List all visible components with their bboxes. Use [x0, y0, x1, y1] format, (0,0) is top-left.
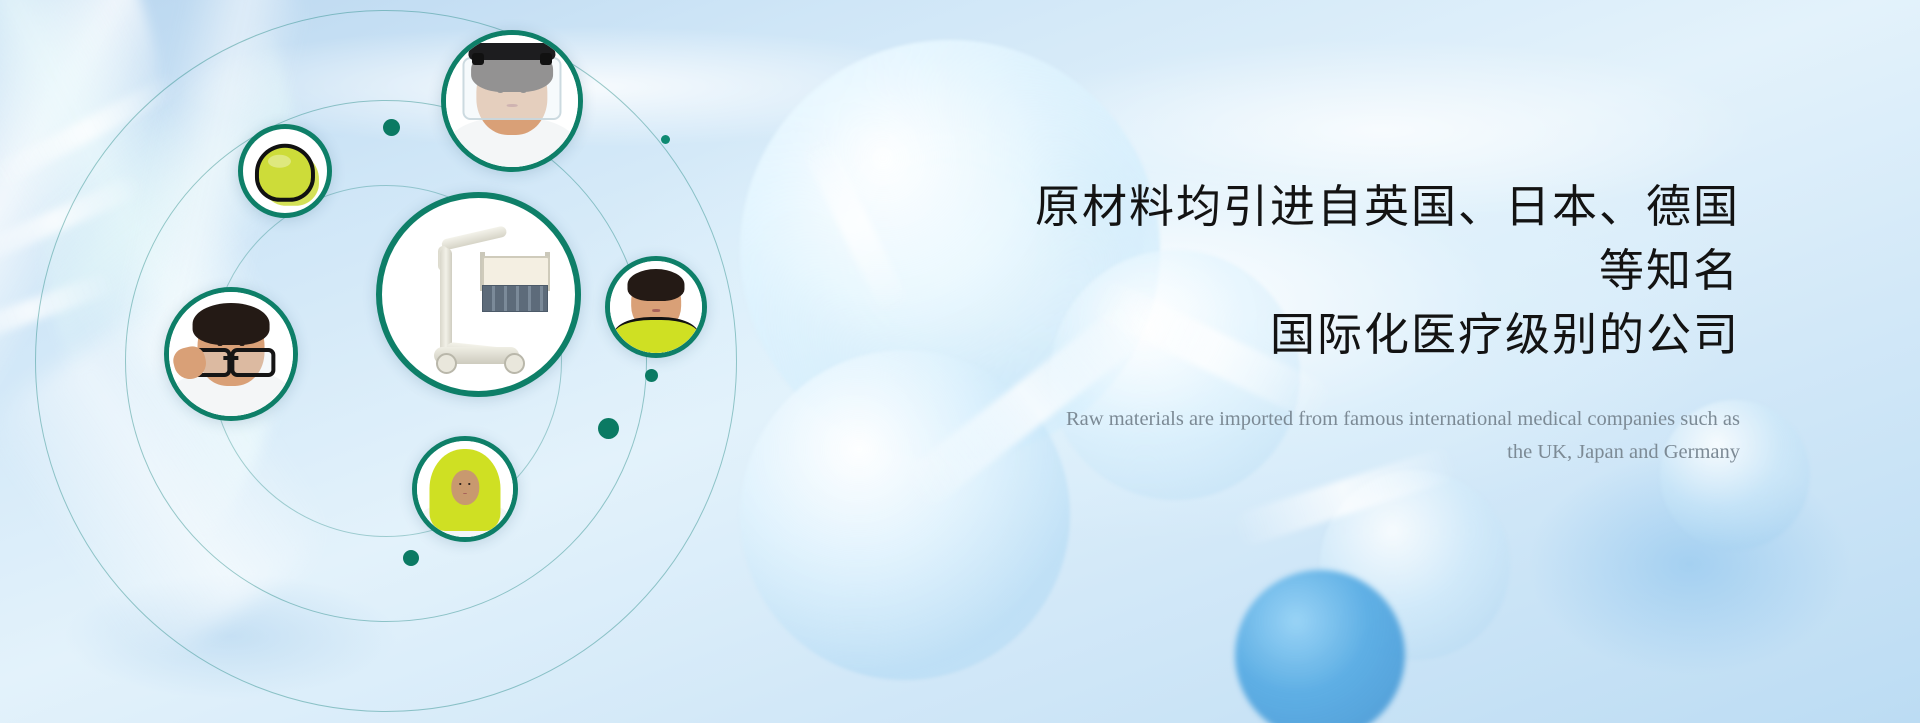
bubble-protective-hood[interactable] — [412, 436, 518, 542]
barrier-wheel-left — [436, 353, 457, 374]
protective-cap-image — [243, 129, 327, 213]
orbit-node-dot-3 — [645, 369, 658, 382]
face-shield-clip-left-icon — [472, 53, 484, 65]
apron-person-mouth — [652, 309, 660, 311]
barrier-lead-curtain — [482, 285, 548, 312]
hood-person-face — [451, 470, 479, 505]
mobile-xray-barrier-image — [382, 198, 575, 391]
hood-person-eye-right — [468, 483, 470, 484]
protective-hood-image — [417, 441, 513, 537]
face-shield-visor-icon — [462, 57, 561, 119]
lead-apron-collar-image — [610, 261, 702, 353]
banner-headline: 原材料均引进自英国、日本、德国等知名 国际化医疗级别的公司 — [1000, 175, 1740, 367]
hood-person-mouth — [463, 493, 468, 494]
orbit-node-dot-5 — [403, 550, 419, 566]
bubble-doctor-glasses[interactable] — [164, 287, 298, 421]
apron-person-hair — [627, 269, 684, 300]
lead-apron-icon — [614, 317, 699, 357]
bubble-protective-cap[interactable] — [238, 124, 332, 218]
doctor-face-shield-image — [446, 35, 578, 167]
cap-highlight — [268, 155, 291, 168]
barrier-wheel-right — [504, 353, 525, 374]
orbit-node-dot-6 — [661, 135, 670, 144]
banner-subtitle: Raw materials are imported from famous i… — [1000, 403, 1740, 471]
barrier-pole — [440, 248, 452, 356]
face-shield-clip-right-icon — [540, 53, 552, 65]
banner-copy: 原材料均引进自英国、日本、德国等知名 国际化医疗级别的公司 Raw materi… — [1000, 175, 1740, 470]
bubble-doctor-face-shield[interactable] — [441, 30, 583, 172]
lead-cap-icon — [255, 143, 315, 201]
headline-line-1: 原材料均引进自英国、日本、德国等知名 — [1035, 181, 1740, 296]
bubble-mobile-xray-barrier[interactable] — [376, 192, 581, 397]
headline-line-2: 国际化医疗级别的公司 — [1000, 303, 1740, 367]
banner-stage: 原材料均引进自英国、日本、德国等知名 国际化医疗级别的公司 Raw materi… — [0, 0, 1920, 723]
hood-person-eye-left — [459, 483, 461, 484]
subtitle-line-1: Raw materials are imported from famous i… — [1066, 408, 1740, 430]
orbit-system — [0, 0, 860, 723]
orbit-node-dot-4 — [598, 418, 619, 439]
doctor-glasses-image — [169, 292, 293, 416]
glasses-bridge — [224, 356, 238, 360]
orbit-node-dot-1 — [383, 119, 400, 136]
barrier-arm — [441, 226, 507, 251]
protective-hood-icon — [429, 449, 500, 532]
bubble-lead-apron-collar[interactable] — [605, 256, 707, 358]
subtitle-line-2: the UK, Japan and Germany — [1000, 436, 1740, 470]
glasses-lens-right — [230, 348, 275, 377]
glasses-doctor-hair — [193, 303, 270, 345]
